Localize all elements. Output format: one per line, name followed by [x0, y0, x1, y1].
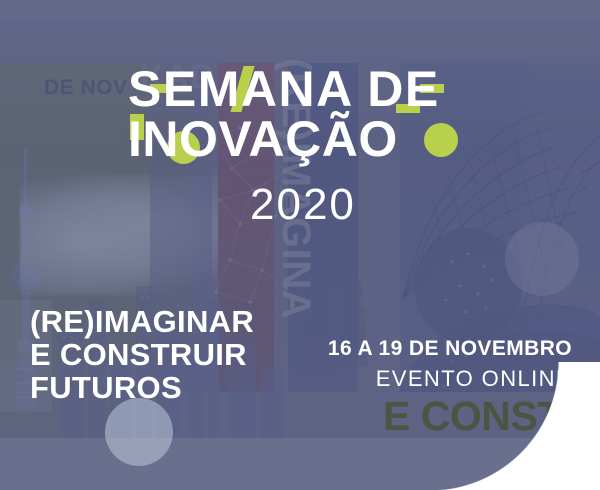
banner-lockup: SEMANA DE INOVAÇÃO 2020 (RE)IMAGINAR E C… [0, 0, 600, 490]
event-year: 2020 [250, 182, 356, 228]
event-date-block: 16 A 19 DE NOVEMBRO EVENTO ONLINE [328, 337, 572, 393]
headline-line-2: E CONSTRUIR [30, 338, 254, 371]
title-line-2-text: INOVAÇÃO [128, 111, 398, 167]
event-headline: (RE)IMAGINAR E CONSTRUIR FUTUROS [30, 305, 254, 404]
event-title: SEMANA DE INOVAÇÃO [128, 63, 488, 165]
event-banner: KAD DE NOV (RE)IMAGINA E CONSTRU SEMANA … [0, 0, 600, 490]
title-line-1-text: SEMANA DE [128, 61, 440, 117]
event-dates: 16 A 19 DE NOVEMBRO [328, 337, 572, 361]
event-format: EVENTO ONLINE [328, 365, 572, 393]
title-line-semana-de: SEMANA DE [128, 63, 488, 115]
title-line-inovacao: INOVAÇÃO [128, 113, 488, 165]
headline-line-1: (RE)IMAGINAR [30, 305, 254, 338]
accent-circle-o-last [424, 123, 458, 157]
headline-line-3: FUTUROS [30, 371, 254, 404]
